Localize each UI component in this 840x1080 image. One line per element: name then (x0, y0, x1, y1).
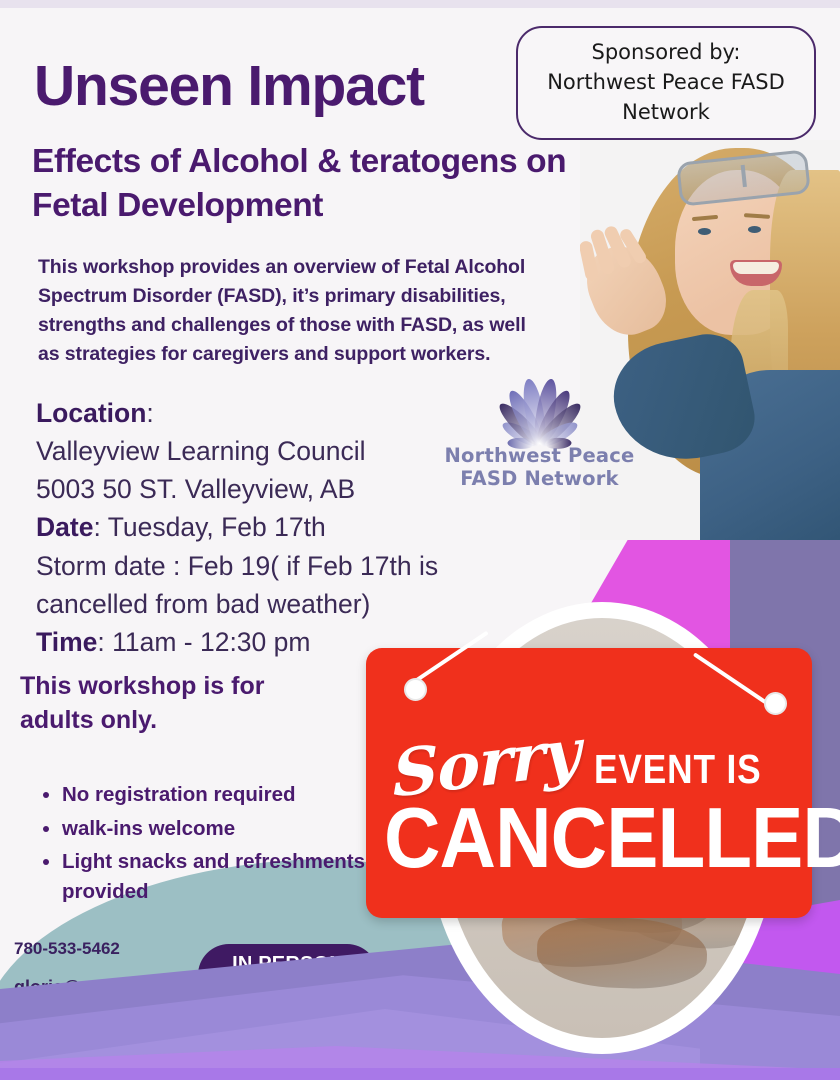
adults-only-notice: This workshop is for adults only. (20, 670, 400, 738)
time-label: Time (36, 627, 97, 657)
venue-name: Valleyview Learning Council (36, 432, 556, 470)
workshop-description: This workshop provides an overview of Fe… (38, 253, 548, 368)
page-subtitle: Effects of Alcohol & teratogens on Fetal… (32, 140, 722, 228)
sign-cancelled-text: CANCELLED (384, 796, 840, 881)
date-label: Date (36, 512, 93, 542)
cancelled-sign: Sorry EVENT IS CANCELLED (366, 648, 812, 918)
page-title: Unseen Impact (34, 58, 424, 115)
notice-line-1: This workshop is for (20, 670, 400, 704)
date-row: Date: Tuesday, Feb 17th (36, 508, 556, 546)
date-value: : Tuesday, Feb 17th (93, 512, 325, 542)
info-bullet-list: No registration requiredwalk-ins welcome… (30, 780, 422, 911)
location-label: Location (36, 398, 146, 428)
subtitle-line-1: Effects of Alcohol & teratogens on (32, 140, 722, 184)
sponsor-line-2: Northwest Peace FASD (547, 68, 785, 98)
storm-date-line-2: cancelled from bad weather) (36, 585, 556, 623)
location-row: Location: (36, 394, 556, 432)
background-top-strip (0, 0, 840, 8)
venue-address: 5003 50 ST. Valleyview, AB (36, 470, 556, 508)
sponsor-line-1: Sponsored by: (591, 38, 740, 68)
event-poster: Sponsored by: Northwest Peace FASD Netwo… (0, 0, 840, 1080)
sponsor-badge: Sponsored by: Northwest Peace FASD Netwo… (516, 26, 816, 140)
subtitle-line-2: Fetal Development (32, 184, 722, 228)
event-details: Location: Valleyview Learning Council 50… (36, 394, 556, 661)
background-bottom-strip (0, 1068, 840, 1080)
location-colon: : (146, 398, 153, 428)
time-value: : 11am - 12:30 pm (97, 627, 310, 657)
sponsor-line-3: Network (622, 98, 710, 128)
sign-event-is-text: EVENT IS (594, 746, 762, 793)
notice-line-2: adults only. (20, 704, 400, 738)
storm-date-line-1: Storm date : Feb 19( if Feb 17th is (36, 547, 556, 585)
